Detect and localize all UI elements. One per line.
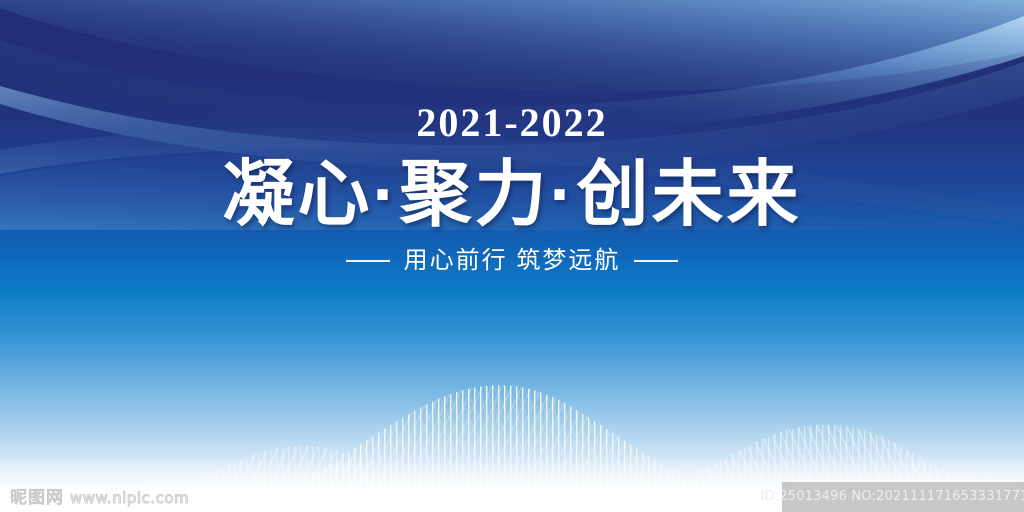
id-badge: ID:25013496 NO:20211117165333177106 xyxy=(782,482,1024,512)
subtitle-rule-right-icon xyxy=(634,260,678,262)
watermark: 昵图网 www.nipic.com xyxy=(10,488,189,508)
year-range: 2021-2022 xyxy=(0,100,1024,146)
nipic-logo-text: 昵图网 xyxy=(10,488,64,508)
poster-text-block: 2021-2022 凝心·聚力·创未来 用心前行 筑梦远航 xyxy=(0,0,1024,276)
id-badge-text: ID:25013496 NO:20211117165333177106 xyxy=(760,489,1024,505)
poster-canvas: 2021-2022 凝心·聚力·创未来 用心前行 筑梦远航 昵图网 www.ni… xyxy=(0,0,1024,512)
nipic-url-text: www.nipic.com xyxy=(70,488,189,508)
subtitle: 用心前行 筑梦远航 xyxy=(404,246,621,276)
subtitle-row: 用心前行 筑梦远航 xyxy=(0,246,1024,276)
subtitle-rule-left-icon xyxy=(346,260,390,262)
headline: 凝心·聚力·创未来 xyxy=(0,152,1024,238)
